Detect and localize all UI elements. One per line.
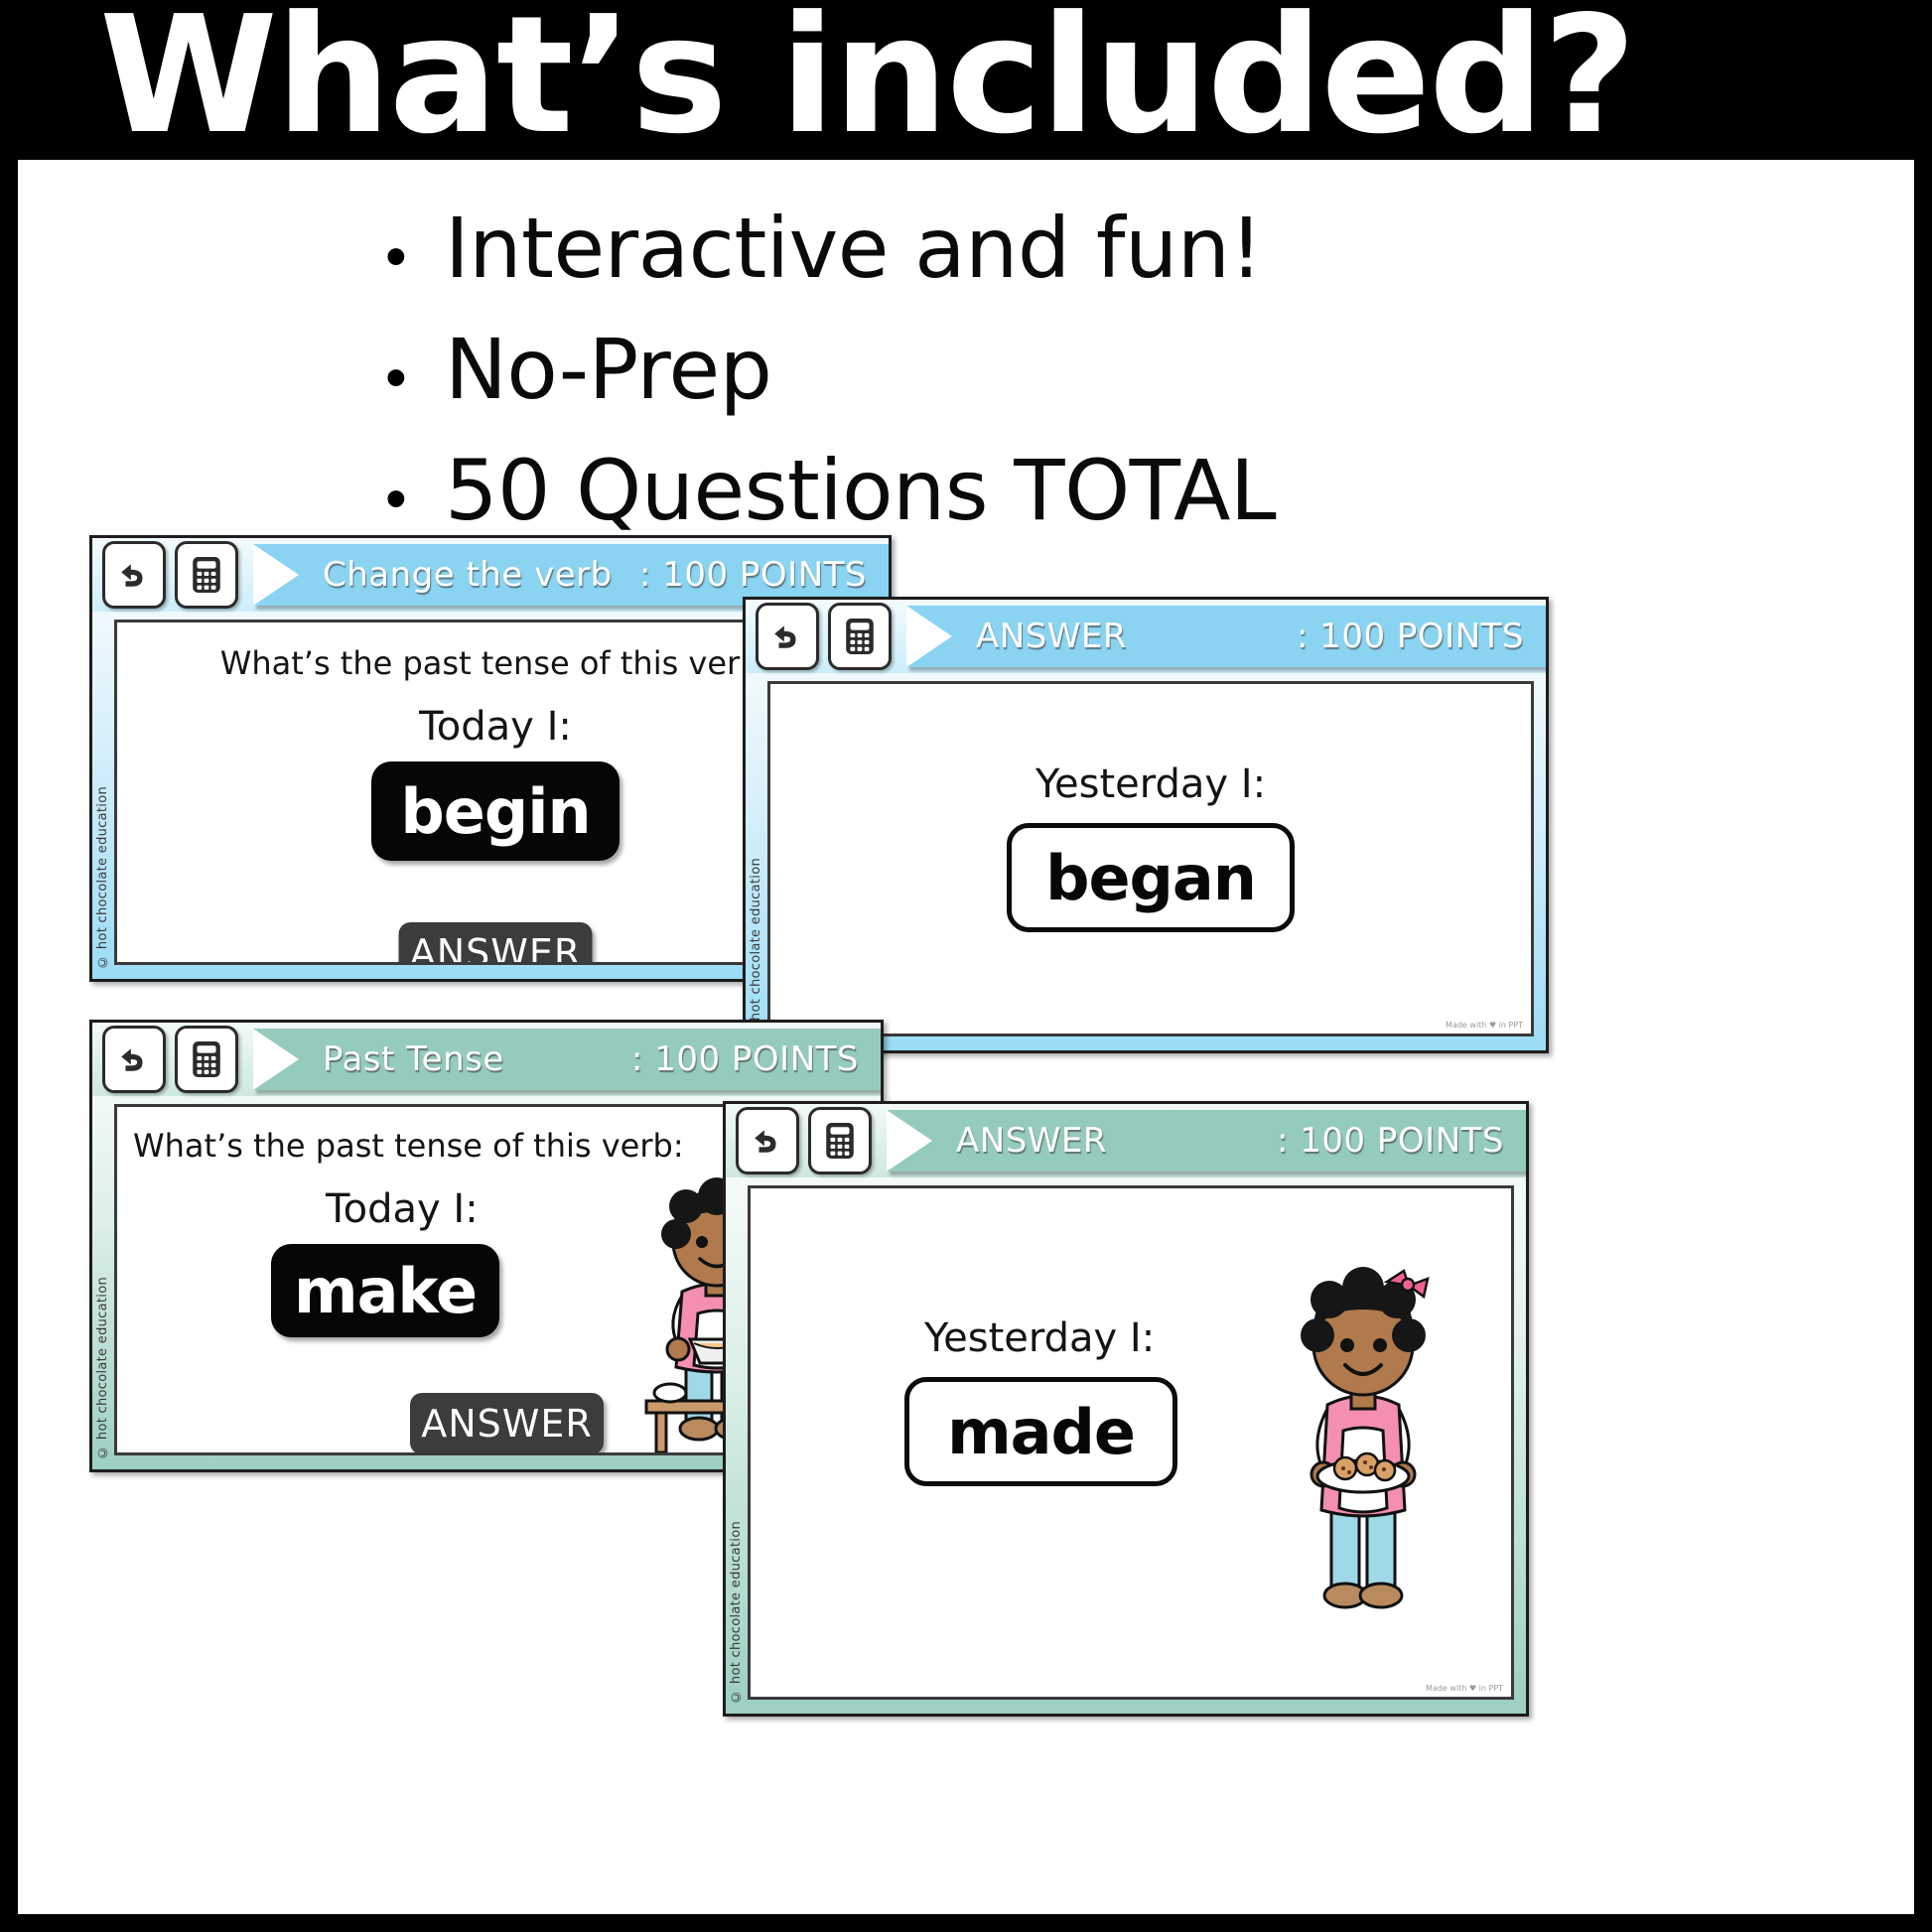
bullet-text: No-Prep	[445, 321, 771, 418]
calculator-icon[interactable]	[175, 541, 238, 609]
corner-credit: Made with ♥ in PPT	[1426, 1684, 1503, 1693]
card-banner: Past Tense : 100 POINTS	[253, 1029, 881, 1090]
tense-label: Today I:	[419, 704, 572, 750]
answer-button[interactable]: ANSWER	[410, 1393, 604, 1454]
back-arrow-icon[interactable]	[736, 1107, 799, 1174]
list-item: • 50 Questions TOTAL	[385, 442, 1676, 539]
card-banner: ANSWER : 100 POINTS	[887, 1110, 1526, 1172]
verb-word-box: began	[1007, 823, 1295, 932]
tense-label: Today I:	[326, 1186, 479, 1232]
page-header: What’s included?	[0, 0, 1932, 160]
corner-credit: Made with ♥ in PPT	[1446, 1021, 1523, 1030]
bullet-text: 50 Questions TOTAL	[445, 442, 1276, 539]
banner-points: : 100 POINTS	[631, 1039, 859, 1079]
question-prompt: What’s the past tense of this verb:	[220, 644, 771, 682]
feature-bullet-list: • Interactive and fun! • No-Prep • 50 Qu…	[385, 200, 1676, 563]
card-banner: ANSWER : 100 POINTS	[906, 606, 1546, 667]
card-content: Yesterday I: began Made with ♥ in PPT	[767, 681, 1534, 1036]
page-title: What’s included?	[99, 0, 1634, 170]
card-toolbar: ANSWER : 100 POINTS	[726, 1104, 1526, 1177]
slide-card-answer-made[interactable]: ANSWER : 100 POINTS Yesterday I: made	[723, 1101, 1529, 1717]
calculator-icon[interactable]	[175, 1026, 238, 1093]
tense-label: Yesterday I:	[924, 1315, 1155, 1361]
bullet-text: Interactive and fun!	[445, 200, 1263, 297]
calculator-icon[interactable]	[828, 603, 892, 670]
question-prompt: What’s the past tense of this verb:	[133, 1127, 684, 1165]
watermark: © hot chocolate education	[95, 1277, 110, 1459]
banner-points: : 100 POINTS	[639, 555, 867, 595]
back-arrow-icon[interactable]	[102, 1026, 166, 1093]
verb-word-box: make	[271, 1244, 499, 1337]
card-toolbar: Past Tense : 100 POINTS	[92, 1023, 881, 1096]
verb-word-box: begin	[371, 761, 620, 861]
back-arrow-icon[interactable]	[102, 541, 166, 609]
verb-word-box: made	[904, 1377, 1177, 1486]
bullet-marker-icon: •	[385, 226, 445, 288]
list-item: • No-Prep	[385, 321, 1676, 418]
banner-points: : 100 POINTS	[1277, 1121, 1504, 1161]
watermark: © hot chocolate education	[95, 786, 110, 969]
bullet-marker-icon: •	[385, 469, 445, 530]
bullet-marker-icon: •	[385, 347, 445, 409]
banner-title: ANSWER	[956, 1121, 1107, 1161]
girl-holding-cookies-illustration	[1252, 1230, 1470, 1647]
watermark: © hot chocolate education	[729, 1521, 744, 1704]
back-arrow-icon[interactable]	[756, 603, 819, 670]
calculator-icon[interactable]	[808, 1107, 872, 1174]
answer-button[interactable]: ANSWER	[399, 922, 593, 965]
banner-title: ANSWER	[976, 617, 1127, 656]
banner-title: Past Tense	[323, 1039, 504, 1079]
content-sheet: • Interactive and fun! • No-Prep • 50 Qu…	[18, 160, 1914, 1914]
banner-title: Change the verb	[323, 555, 613, 595]
watermark: © hot chocolate education	[749, 858, 763, 1040]
banner-points: : 100 POINTS	[1297, 617, 1524, 656]
card-toolbar: ANSWER : 100 POINTS	[746, 600, 1546, 673]
card-content: Yesterday I: made	[748, 1185, 1514, 1700]
tense-label: Yesterday I:	[1035, 761, 1266, 807]
slide-card-answer-began[interactable]: ANSWER : 100 POINTS Yesterday I: began M…	[743, 597, 1549, 1053]
list-item: • Interactive and fun!	[385, 200, 1676, 297]
